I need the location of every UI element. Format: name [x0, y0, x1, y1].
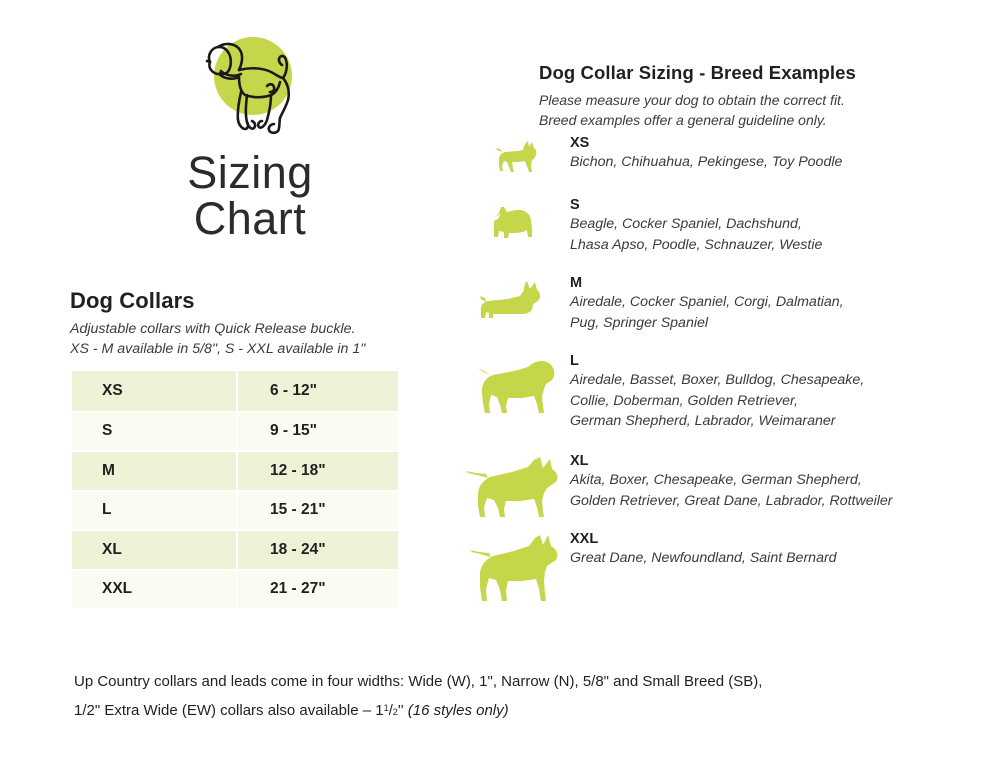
footer-note: Up Country collars and leads come in fou…: [74, 668, 954, 726]
collar-size-table: XS6 - 12"S9 - 15"M12 - 18"L15 - 21"XL18 …: [72, 371, 398, 608]
breed-info: LAiredale, Basset, Boxer, Bulldog, Chesa…: [570, 352, 1000, 432]
breed-size-label: L: [570, 352, 1000, 370]
breed-info: SBeagle, Cocker Spaniel, Dachshund, Lhas…: [570, 196, 1000, 255]
breed-examples-heading: Dog Collar Sizing - Breed Examples: [539, 62, 856, 84]
chihuahua-silhouette-icon: [460, 134, 570, 135]
left-column: Sizing Chart Dog Collars Adjustable coll…: [0, 0, 460, 660]
retriever-silhouette-icon: [460, 352, 570, 353]
breed-size-label: S: [570, 196, 1000, 214]
breed-row: XSBichon, Chihuahua, Pekingese, Toy Pood…: [460, 134, 1000, 196]
german-shepherd-silhouette-icon: [460, 452, 570, 453]
collar-size-table-body: XS6 - 12"S9 - 15"M12 - 18"L15 - 21"XL18 …: [72, 371, 398, 608]
breed-examples-subtitle-line2: Breed examples offer a general guideline…: [539, 111, 845, 131]
corgi-silhouette-icon: [460, 274, 570, 275]
footer-fraction-numerator: 1: [384, 703, 389, 713]
breed-size-label: XXL: [570, 530, 1000, 548]
breed-examples-subtitle-line1: Please measure your dog to obtain the co…: [539, 91, 845, 111]
sizing-chart-page: Sizing Chart Dog Collars Adjustable coll…: [0, 0, 1000, 782]
table-row: XL18 - 24": [72, 529, 398, 569]
table-row: XS6 - 12": [72, 371, 398, 411]
size-label-cell: S: [72, 411, 238, 451]
footer-line2: 1/2" Extra Wide (EW) collars also availa…: [74, 695, 954, 726]
breed-example-names: Airedale, Cocker Spaniel, Corgi, Dalmati…: [570, 292, 1000, 333]
breed-example-names: Akita, Boxer, Chesapeake, German Shepher…: [570, 470, 1000, 511]
size-range-cell: 15 - 21": [238, 490, 398, 530]
breed-info: XXLGreat Dane, Newfoundland, Saint Berna…: [570, 530, 1000, 569]
dog-collars-subtitle-line2: XS - M available in 5/8", S - XXL availa…: [70, 340, 365, 360]
dog-outline-on-green-circle-icon: [185, 34, 315, 144]
breed-row: XXLGreat Dane, Newfoundland, Saint Berna…: [460, 530, 1000, 590]
breed-size-label: XS: [570, 134, 1000, 152]
dog-collars-heading: Dog Collars: [70, 288, 195, 314]
size-range-cell: 9 - 15": [238, 411, 398, 451]
size-label-cell: L: [72, 490, 238, 530]
size-label-cell: XS: [72, 371, 238, 411]
breed-size-label: M: [570, 274, 1000, 292]
size-range-cell: 6 - 12": [238, 371, 398, 411]
footer-styles-note: (16 styles only): [408, 702, 509, 719]
size-range-cell: 18 - 24": [238, 529, 398, 569]
breed-example-names: Airedale, Basset, Boxer, Bulldog, Chesap…: [570, 370, 1000, 432]
dog-collars-subtitle-line1: Adjustable collars with Quick Release bu…: [70, 320, 365, 340]
breed-row: LAiredale, Basset, Boxer, Bulldog, Chesa…: [460, 352, 1000, 452]
size-range-cell: 21 - 27": [238, 569, 398, 609]
size-label-cell: XL: [72, 529, 238, 569]
breed-examples-subtitle: Please measure your dog to obtain the co…: [539, 91, 845, 130]
table-row: L15 - 21": [72, 490, 398, 530]
breed-info: MAiredale, Cocker Spaniel, Corgi, Dalmat…: [570, 274, 1000, 333]
logo-text-line1: Sizing: [140, 150, 360, 196]
footer-fraction: 1/2: [384, 703, 398, 719]
breed-examples-list: XSBichon, Chihuahua, Pekingese, Toy Pood…: [460, 134, 1000, 590]
footer-line1: Up Country collars and leads come in fou…: [74, 668, 954, 695]
size-label-cell: M: [72, 450, 238, 490]
footer-inch-marks: '': [398, 702, 404, 719]
breed-row: SBeagle, Cocker Spaniel, Dachshund, Lhas…: [460, 196, 1000, 274]
breed-row: MAiredale, Cocker Spaniel, Corgi, Dalmat…: [460, 274, 1000, 352]
logo-text-line2: Chart: [140, 196, 360, 242]
table-row: S9 - 15": [72, 411, 398, 451]
breed-row: XLAkita, Boxer, Chesapeake, German Sheph…: [460, 452, 1000, 530]
great-dane-silhouette-icon: [460, 530, 570, 531]
breed-size-label: XL: [570, 452, 1000, 470]
breed-example-names: Bichon, Chihuahua, Pekingese, Toy Poodle: [570, 152, 1000, 173]
size-range-cell: 12 - 18": [238, 450, 398, 490]
table-row: XXL21 - 27": [72, 569, 398, 609]
breed-example-names: Beagle, Cocker Spaniel, Dachshund, Lhasa…: [570, 214, 1000, 255]
brand-logo-block: Sizing Chart: [140, 34, 360, 242]
dog-collars-subtitle: Adjustable collars with Quick Release bu…: [70, 320, 365, 359]
table-row: M12 - 18": [72, 450, 398, 490]
breed-info: XSBichon, Chihuahua, Pekingese, Toy Pood…: [570, 134, 1000, 173]
small-terrier-silhouette-icon: [460, 196, 570, 197]
size-label-cell: XXL: [72, 569, 238, 609]
breed-example-names: Great Dane, Newfoundland, Saint Bernard: [570, 548, 1000, 569]
footer-line2-text: 1/2" Extra Wide (EW) collars also availa…: [74, 702, 384, 719]
breed-info: XLAkita, Boxer, Chesapeake, German Sheph…: [570, 452, 1000, 511]
